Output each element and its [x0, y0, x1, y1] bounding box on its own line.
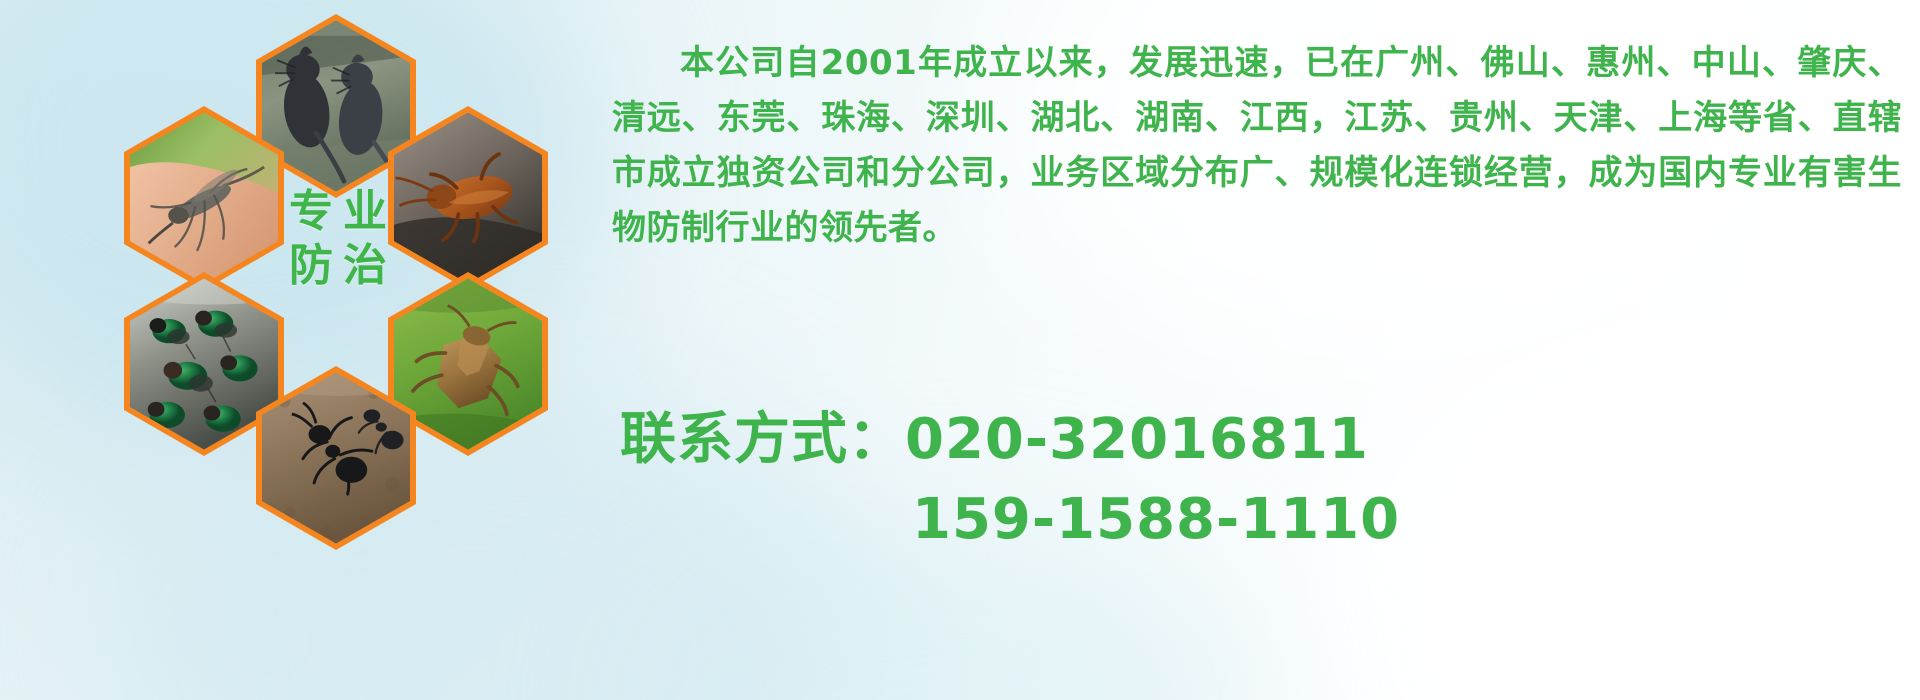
about-paragraph: 本公司自2001年成立以来，发展迅速，已在广州、佛山、惠州、中山、肇庆、清远、东…: [612, 36, 1902, 256]
center-label-line-2: 防治: [258, 239, 428, 293]
center-label-line-1: 专业: [258, 185, 428, 239]
mosquito-photo: [130, 113, 279, 284]
contact-block: 联系方式：020-32016811 159-1588-1110: [620, 400, 1880, 560]
contact-line-primary[interactable]: 联系方式：020-32016811: [620, 400, 1880, 480]
hex-ants-image: [262, 373, 411, 544]
about-paragraph-block: 本公司自2001年成立以来，发展迅速，已在广州、佛山、惠州、中山、肇庆、清远、东…: [612, 36, 1902, 256]
honeycomb-cluster: 专业 防治: [0, 0, 620, 620]
honeycomb-center-label: 专业 防治: [258, 185, 428, 292]
banner-canvas: 专业 防治 本公司自2001年成立以来，发展迅速，已在广州、佛山、惠州、中山、肇…: [0, 0, 1920, 700]
hex-mosquito-image: [130, 113, 279, 284]
contact-line-secondary[interactable]: 159-1588-1110: [620, 480, 1880, 560]
ants-photo: [262, 373, 411, 544]
